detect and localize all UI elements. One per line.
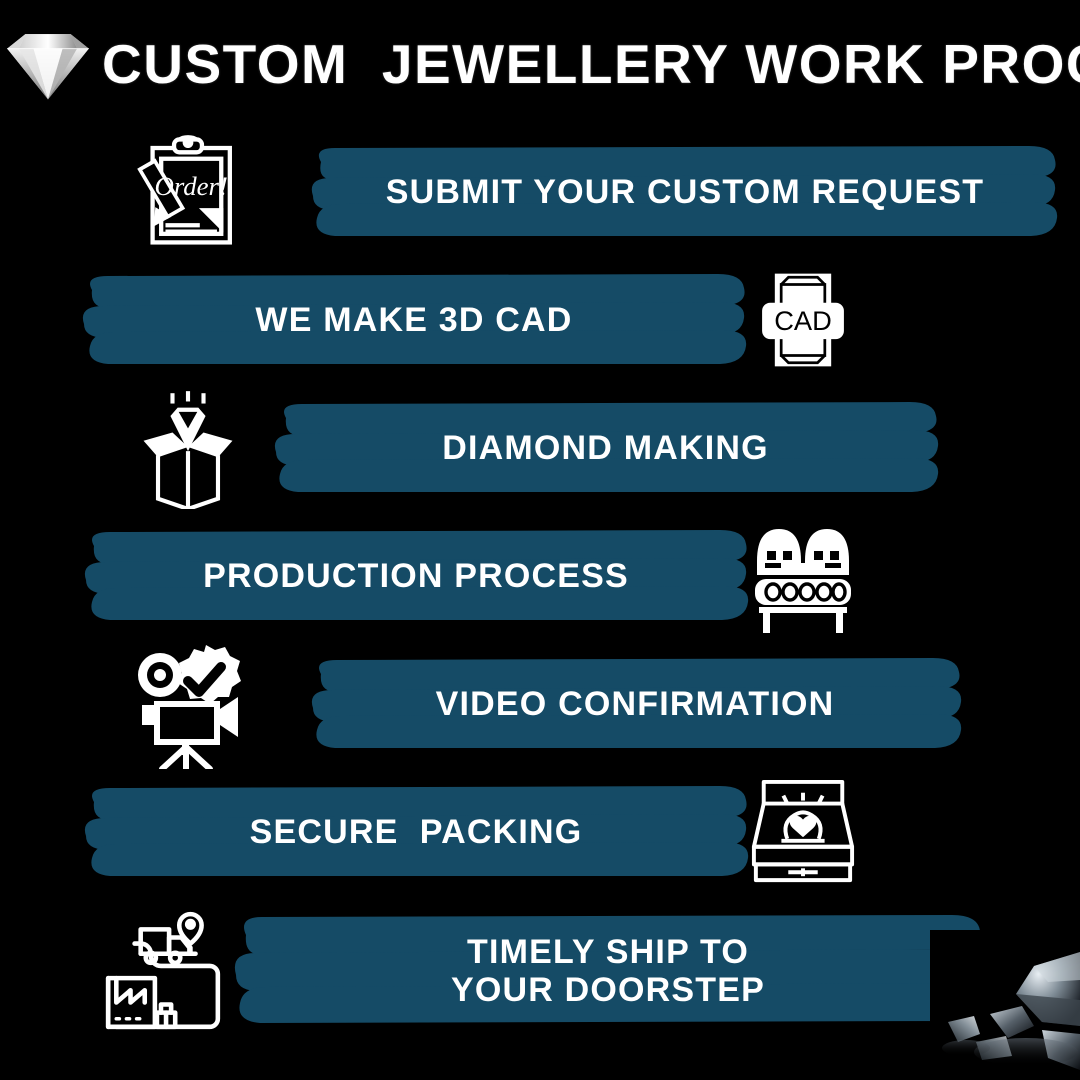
ring-box-icon xyxy=(735,771,870,893)
diamond-in-open-box-icon xyxy=(120,387,255,509)
process-step-3: DIAMOND MAKING xyxy=(0,384,1080,512)
production-machine-conveyor-icon xyxy=(735,515,870,637)
step-banner-4[interactable]: PRODUCTION PROCESS xyxy=(80,524,752,628)
step-banner-5[interactable]: VIDEO CONFIRMATION xyxy=(305,652,965,756)
step-banner-1[interactable]: SUBMIT YOUR CUSTOM REQUEST xyxy=(305,140,1065,244)
process-step-6: SECURE PACKING xyxy=(0,768,1080,896)
cad-printer-text: CAD xyxy=(774,305,832,336)
diamond-gem-icon xyxy=(2,25,94,103)
process-step-1: Order! SUBMIT YOUR CUSTOM REQUEST xyxy=(0,128,1080,256)
clipboard-order-icon: Order! xyxy=(120,131,255,253)
step-label-2: WE MAKE 3D CAD xyxy=(255,301,572,339)
video-camera-check-icon xyxy=(120,643,255,765)
cad-printer-icon: CAD xyxy=(735,259,870,381)
step-label-7: TIMELY SHIP TO YOUR DOORSTEP xyxy=(451,933,765,1009)
step-label-3: DIAMOND MAKING xyxy=(442,429,769,467)
step-banner-2[interactable]: WE MAKE 3D CAD xyxy=(78,268,750,372)
step-banner-6[interactable]: SECURE PACKING xyxy=(80,780,752,884)
clipboard-order-text: Order! xyxy=(154,171,227,201)
page-title: CUSTOM JEWELLERY WORK PROCESS xyxy=(102,37,1080,92)
process-step-4: PRODUCTION PROCESS xyxy=(0,512,1080,640)
step-label-5: VIDEO CONFIRMATION xyxy=(436,685,835,723)
step-banner-7[interactable]: TIMELY SHIP TO YOUR DOORSTEP xyxy=(228,909,988,1033)
step-label-4: PRODUCTION PROCESS xyxy=(203,557,629,595)
factory-truck-delivery-icon xyxy=(92,907,232,1035)
step-banner-3[interactable]: DIAMOND MAKING xyxy=(268,396,943,500)
process-step-5: VIDEO CONFIRMATION xyxy=(0,640,1080,768)
step-label-6: SECURE PACKING xyxy=(250,813,583,851)
page-header: CUSTOM JEWELLERY WORK PROCESS xyxy=(0,0,1080,128)
step-label-1: SUBMIT YOUR CUSTOM REQUEST xyxy=(386,173,985,211)
process-steps-list: Order! SUBMIT YOUR CUSTOM REQUEST CAD xyxy=(0,128,1080,1046)
process-step-2: CAD WE MAKE 3D CAD xyxy=(0,256,1080,384)
process-step-7: TIMELY SHIP TO YOUR DOORSTEP xyxy=(0,896,1080,1046)
